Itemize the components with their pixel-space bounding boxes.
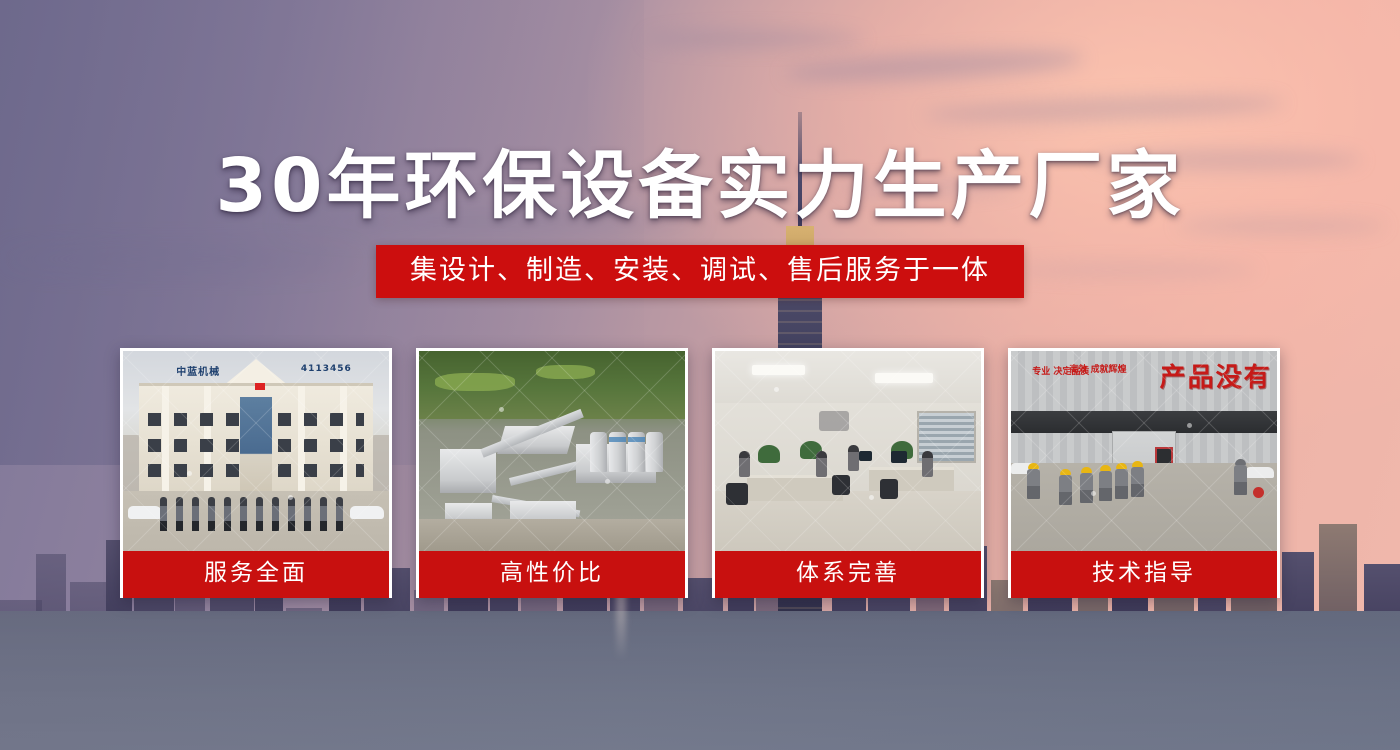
card-caption: 高性价比 [419,551,685,598]
subtitle-banner: 集设计、制造、安装、调试、售后服务于一体 [376,245,1024,298]
card-caption: 服务全面 [123,551,389,598]
photo-plant-aerial [419,351,685,551]
factory-sign-small-left2: 高效 成就辉煌 [1070,365,1127,375]
factory-sign-text: 产品没有 [1160,357,1272,394]
feature-card[interactable]: 产品没有 专业 决定品质 高效 成就辉煌 [1008,348,1280,598]
page-title: 30年环保设备实力生产厂家 [216,126,1185,233]
building-sign-phone: 4113456 [301,364,352,374]
promo-banner: 30年环保设备实力生产厂家 集设计、制造、安装、调试、售后服务于一体 [0,0,1400,750]
feature-card[interactable]: 中蓝机械 4113456 [120,348,392,598]
building-sign-text: 中蓝机械 [176,363,220,378]
feature-card-list: 中蓝机械 4113456 [120,348,1280,598]
feature-card[interactable]: 体系完善 [712,348,984,598]
photo-office-building: 中蓝机械 4113456 [123,351,389,551]
feature-card[interactable]: 高性价比 [416,348,688,598]
card-caption: 技术指导 [1011,551,1277,598]
card-caption: 体系完善 [715,551,981,598]
photo-office-interior [715,351,981,551]
photo-workers-training: 产品没有 专业 决定品质 高效 成就辉煌 [1011,351,1277,551]
subtitle-text: 集设计、制造、安装、调试、售后服务于一体 [410,257,990,284]
